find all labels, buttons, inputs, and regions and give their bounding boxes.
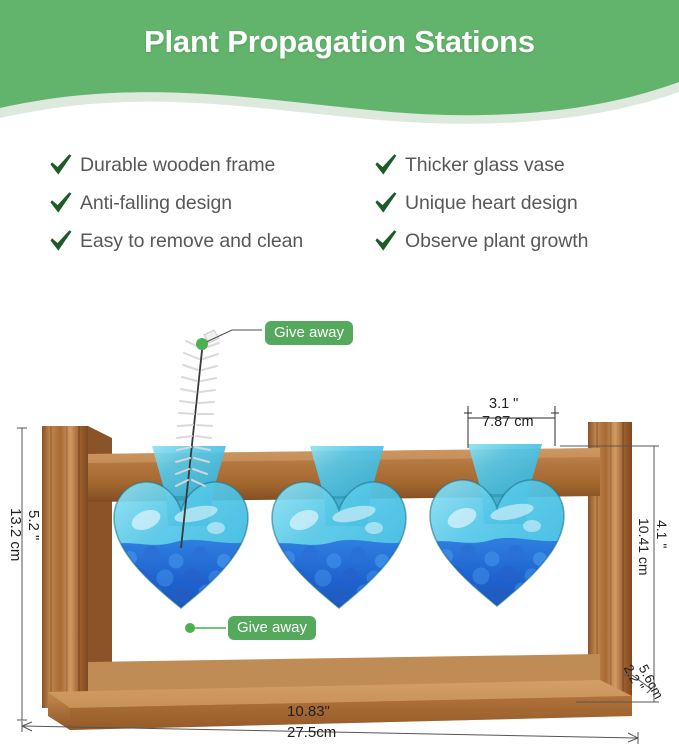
dimension-label-frame-height-inches: 5.2 " — [25, 510, 42, 540]
feature-label: Easy to remove and clean — [80, 230, 303, 253]
check-icon — [373, 228, 399, 254]
giveaway-badge-brush: Give away — [265, 321, 353, 345]
dimension-label-vase-width-inches: 3.1 " — [489, 396, 518, 412]
feature-item: Observe plant growth — [373, 222, 648, 260]
feature-label: Unique heart design — [405, 192, 578, 215]
feature-label: Observe plant growth — [405, 230, 588, 253]
giveaway-badge-beads: Give away — [228, 616, 316, 640]
feature-item: Unique heart design — [373, 184, 648, 222]
check-icon — [48, 190, 74, 216]
feature-column-left: Durable wooden frame Anti-falling design… — [48, 146, 373, 260]
check-icon — [373, 190, 399, 216]
dimension-label-frame-width-inches: 10.83" — [287, 703, 330, 720]
feature-item: Anti-falling design — [48, 184, 373, 222]
feature-label: Durable wooden frame — [80, 154, 275, 177]
check-icon — [48, 228, 74, 254]
water-beads — [266, 540, 413, 618]
feature-list: Durable wooden frame Anti-falling design… — [48, 146, 648, 260]
header-banner: Plant Propagation Stations — [0, 0, 679, 132]
feature-label: Anti-falling design — [80, 192, 232, 215]
dimension-line-frame-height — [17, 428, 27, 720]
dimension-label-vase-width-cm: 7.87 cm — [482, 414, 534, 430]
check-icon — [48, 152, 74, 178]
water-beads — [424, 538, 571, 616]
feature-label: Thicker glass vase — [405, 154, 565, 177]
callout-leader-line-brush — [196, 330, 262, 350]
feature-item: Durable wooden frame — [48, 146, 373, 184]
feature-item: Thicker glass vase — [373, 146, 648, 184]
check-icon — [373, 152, 399, 178]
dimension-label-inner-height-inches: 4.1 " — [654, 520, 670, 548]
callout-leader-line-beads — [185, 623, 226, 633]
feature-column-right: Thicker glass vase Unique heart design O… — [373, 146, 648, 260]
dimension-label-frame-height-cm: 13.2 cm — [7, 508, 24, 561]
wood-base — [48, 654, 632, 730]
page-title: Plant Propagation Stations — [0, 24, 679, 60]
feature-item: Easy to remove and clean — [48, 222, 373, 260]
dimension-label-inner-height-cm: 10.41 cm — [636, 518, 652, 576]
header-wave-shape — [0, 0, 679, 132]
dimension-label-frame-width-cm: 27.5cm — [287, 724, 336, 741]
water-beads — [108, 540, 255, 618]
